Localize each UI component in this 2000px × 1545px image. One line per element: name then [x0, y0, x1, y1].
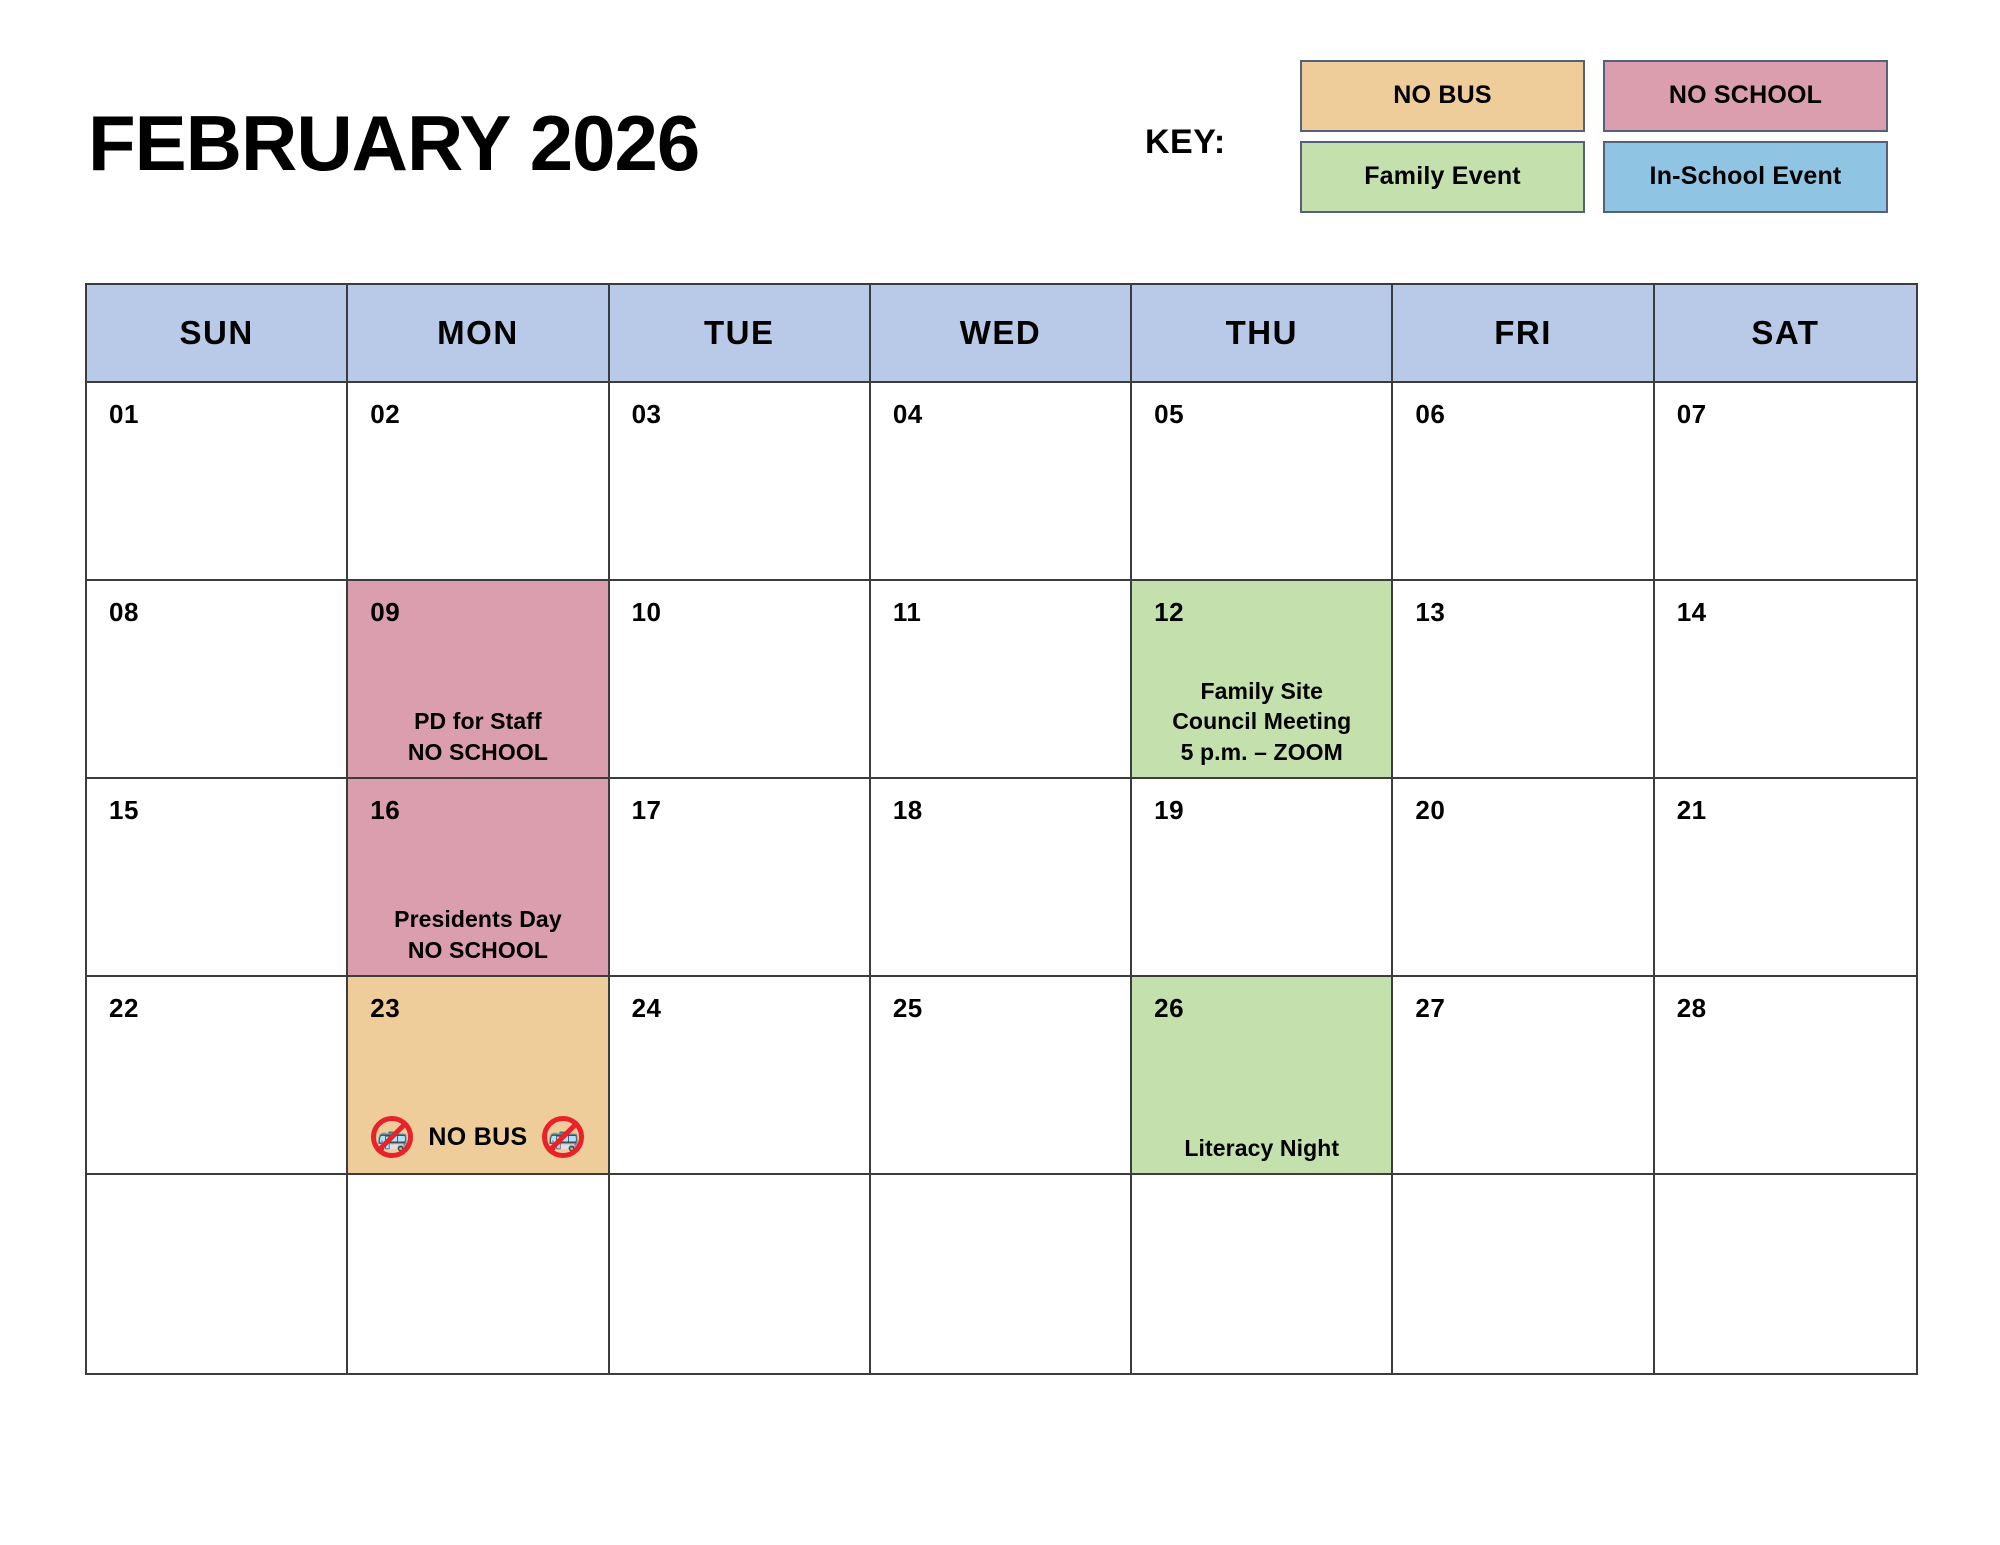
- weekday-header-thu: THU: [1132, 285, 1393, 383]
- weekday-header-sun: SUN: [87, 285, 348, 383]
- day-number: 11: [893, 597, 922, 628]
- day-cell-16[interactable]: 16Presidents Day NO SCHOOL: [348, 779, 609, 977]
- day-cell-18[interactable]: 18: [871, 779, 1132, 977]
- day-number: 27: [1415, 993, 1445, 1024]
- day-cell-17[interactable]: 17: [610, 779, 871, 977]
- day-cell-27[interactable]: 27: [1393, 977, 1654, 1175]
- weekday-header-sat: SAT: [1655, 285, 1916, 383]
- day-cell-empty[interactable]: [87, 1175, 348, 1373]
- day-number: 14: [1677, 597, 1707, 628]
- day-number: 21: [1677, 795, 1707, 826]
- day-cell-02[interactable]: 02: [348, 383, 609, 581]
- day-cell-empty[interactable]: [348, 1175, 609, 1373]
- calendar-page: FEBRUARY 2026 KEY: NO BUSNO SCHOOLFamily…: [0, 0, 2000, 1545]
- legend-item-label: NO SCHOOL: [1669, 82, 1822, 110]
- day-cell-11[interactable]: 11: [871, 581, 1132, 779]
- day-cell-empty[interactable]: [610, 1175, 871, 1373]
- weekday-header-row: SUNMONTUEWEDTHUFRISAT: [87, 285, 1916, 383]
- day-number: 05: [1154, 399, 1184, 430]
- day-number: 22: [109, 993, 139, 1024]
- day-number: 06: [1415, 399, 1445, 430]
- day-number: 17: [632, 795, 662, 826]
- day-cell-19[interactable]: 19: [1132, 779, 1393, 977]
- day-cell-24[interactable]: 24: [610, 977, 871, 1175]
- weekday-header-wed: WED: [871, 285, 1132, 383]
- day-cell-14[interactable]: 14: [1655, 581, 1916, 779]
- day-cell-22[interactable]: 22: [87, 977, 348, 1175]
- day-number: 23: [370, 993, 400, 1024]
- legend-item-in-school-event: In-School Event: [1603, 141, 1888, 213]
- day-number: 09: [370, 597, 400, 628]
- day-number: 18: [893, 795, 923, 826]
- day-cell-empty[interactable]: [871, 1175, 1132, 1373]
- day-cell-08[interactable]: 08: [87, 581, 348, 779]
- day-event: Presidents Day NO SCHOOL: [354, 904, 601, 965]
- day-number: 07: [1677, 399, 1707, 430]
- page-title: FEBRUARY 2026: [88, 104, 699, 182]
- legend-item-no-bus: NO BUS: [1300, 60, 1585, 132]
- day-cell-21[interactable]: 21: [1655, 779, 1916, 977]
- day-number: 26: [1154, 993, 1184, 1024]
- page-header: FEBRUARY 2026 KEY: NO BUSNO SCHOOLFamily…: [0, 0, 2000, 250]
- day-cell-23[interactable]: 23🚌NO BUS🚌: [348, 977, 609, 1175]
- day-number: 25: [893, 993, 923, 1024]
- legend: NO BUSNO SCHOOLFamily EventIn-School Eve…: [1300, 60, 1900, 213]
- day-cell-12[interactable]: 12Family Site Council Meeting 5 p.m. – Z…: [1132, 581, 1393, 779]
- day-cell-25[interactable]: 25: [871, 977, 1132, 1175]
- no-bus-icon: 🚌: [541, 1115, 585, 1159]
- weekday-header-mon: MON: [348, 285, 609, 383]
- day-number: 28: [1677, 993, 1707, 1024]
- legend-item-label: Family Event: [1364, 163, 1521, 191]
- day-number: 08: [109, 597, 139, 628]
- day-cell-28[interactable]: 28: [1655, 977, 1916, 1175]
- calendar-body: 010203040506070809PD for Staff NO SCHOOL…: [87, 383, 1916, 1373]
- no-bus-icon: 🚌: [370, 1115, 414, 1159]
- day-cell-01[interactable]: 01: [87, 383, 348, 581]
- day-number: 03: [632, 399, 662, 430]
- legend-item-label: NO BUS: [1393, 82, 1491, 110]
- day-cell-10[interactable]: 10: [610, 581, 871, 779]
- day-cell-13[interactable]: 13: [1393, 581, 1654, 779]
- day-number: 04: [893, 399, 923, 430]
- day-cell-04[interactable]: 04: [871, 383, 1132, 581]
- day-cell-06[interactable]: 06: [1393, 383, 1654, 581]
- day-number: 16: [370, 795, 400, 826]
- day-event: Literacy Night: [1138, 1133, 1385, 1163]
- calendar-grid: SUNMONTUEWEDTHUFRISAT 010203040506070809…: [85, 283, 1918, 1375]
- weekday-header-tue: TUE: [610, 285, 871, 383]
- day-number: 02: [370, 399, 400, 430]
- day-cell-09[interactable]: 09PD for Staff NO SCHOOL: [348, 581, 609, 779]
- day-cell-26[interactable]: 26Literacy Night: [1132, 977, 1393, 1175]
- legend-item-family-event: Family Event: [1300, 141, 1585, 213]
- day-number: 12: [1154, 597, 1184, 628]
- day-number: 15: [109, 795, 139, 826]
- day-number: 13: [1415, 597, 1445, 628]
- day-cell-20[interactable]: 20: [1393, 779, 1654, 977]
- day-event: 🚌NO BUS🚌: [354, 1115, 601, 1159]
- day-number: 01: [109, 399, 139, 430]
- day-event: PD for Staff NO SCHOOL: [354, 706, 601, 767]
- day-event: Family Site Council Meeting 5 p.m. – ZOO…: [1138, 676, 1385, 767]
- day-number: 10: [632, 597, 662, 628]
- day-cell-empty[interactable]: [1132, 1175, 1393, 1373]
- weekday-header-fri: FRI: [1393, 285, 1654, 383]
- day-cell-empty[interactable]: [1393, 1175, 1654, 1373]
- day-event-label: NO BUS: [428, 1123, 527, 1152]
- legend-item-no-school: NO SCHOOL: [1603, 60, 1888, 132]
- day-cell-05[interactable]: 05: [1132, 383, 1393, 581]
- day-cell-03[interactable]: 03: [610, 383, 871, 581]
- day-number: 24: [632, 993, 662, 1024]
- day-cell-07[interactable]: 07: [1655, 383, 1916, 581]
- day-cell-15[interactable]: 15: [87, 779, 348, 977]
- day-cell-empty[interactable]: [1655, 1175, 1916, 1373]
- legend-item-label: In-School Event: [1650, 163, 1842, 191]
- day-number: 20: [1415, 795, 1445, 826]
- day-number: 19: [1154, 795, 1184, 826]
- legend-label: KEY:: [1145, 123, 1226, 162]
